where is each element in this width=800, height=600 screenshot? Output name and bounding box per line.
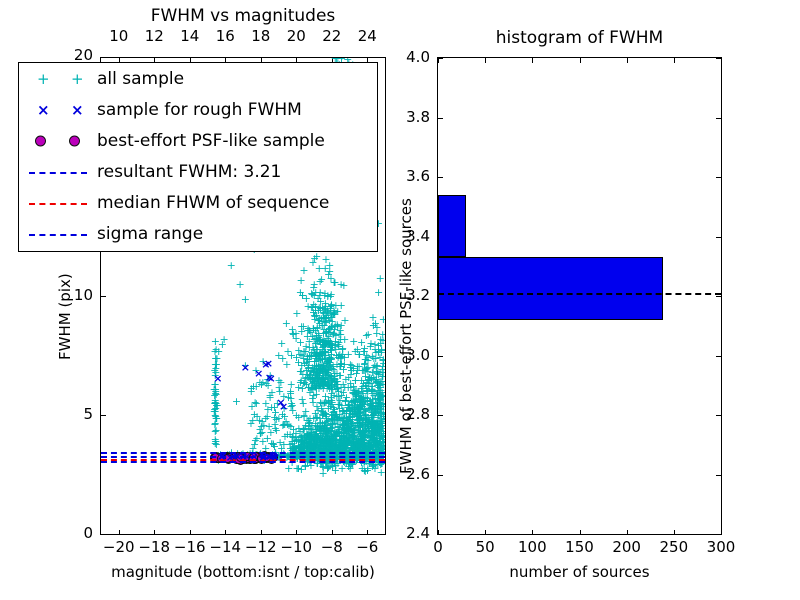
histogram-bar	[438, 257, 663, 319]
all-sample-marker: +	[312, 390, 321, 399]
left-panel-title: FWHM vs magnitudes	[100, 6, 386, 26]
all-sample-marker: +	[211, 427, 220, 436]
all-sample-marker: +	[366, 400, 375, 409]
all-sample-marker: +	[251, 398, 260, 407]
all-sample-marker: +	[319, 469, 328, 478]
left-ylabel: FWHM (pix)	[56, 273, 74, 360]
plot-legend[interactable]: ++all sample××sample for rough FWHMbest-…	[18, 62, 378, 252]
legend-symbol-x-icon: ××	[19, 94, 97, 125]
plus-icon: +	[71, 70, 84, 88]
rough-fwhm-marker: ×	[233, 452, 242, 461]
all-sample-marker: +	[271, 424, 280, 433]
all-sample-marker: +	[330, 431, 339, 440]
dashdot-line-icon	[29, 234, 87, 236]
all-sample-marker: +	[362, 386, 371, 395]
right-x-tick-label: 300	[699, 538, 743, 556]
legend-symbol-plus-icon: ++	[19, 63, 97, 94]
all-sample-marker: +	[287, 399, 296, 408]
y-tick-mark	[438, 534, 443, 535]
left-top-tick-label: 24	[345, 27, 389, 45]
dashed-line-icon	[29, 172, 87, 174]
all-sample-marker: +	[274, 351, 283, 360]
right-y-tick-label: 4.0	[390, 48, 430, 66]
all-sample-marker: +	[257, 417, 266, 426]
all-sample-marker: +	[325, 261, 334, 270]
all-sample-marker: +	[371, 436, 380, 445]
dashed-line-icon	[29, 203, 87, 205]
all-sample-marker: +	[235, 280, 244, 289]
all-sample-marker: +	[315, 264, 324, 273]
all-sample-marker: +	[356, 436, 365, 445]
legend-row[interactable]: best-effort PSF-like sample	[19, 125, 377, 156]
right-x-tick-label: 100	[510, 538, 554, 556]
legend-label: all sample	[97, 69, 184, 89]
x-tick-mark	[721, 530, 722, 535]
rough-fwhm-marker: ×	[213, 374, 222, 383]
legend-row[interactable]: ++all sample	[19, 63, 377, 94]
all-sample-marker: +	[379, 356, 386, 365]
all-sample-marker: +	[299, 399, 308, 408]
all-sample-marker: +	[371, 319, 380, 328]
all-sample-marker: +	[292, 309, 301, 318]
all-sample-marker: +	[374, 288, 383, 297]
all-sample-marker: +	[336, 326, 345, 335]
all-sample-marker: +	[318, 371, 327, 380]
all-sample-marker: +	[312, 252, 321, 261]
rough-fwhm-marker: ×	[264, 359, 273, 368]
all-sample-marker: +	[309, 324, 318, 333]
legend-symbol-dashed-line-icon	[19, 156, 97, 187]
all-sample-marker: +	[323, 291, 332, 300]
legend-symbol-dashed-line-icon	[19, 187, 97, 218]
all-sample-marker: +	[299, 322, 308, 331]
all-sample-marker: +	[212, 414, 221, 423]
left-y-tick-label: 5	[61, 405, 93, 423]
all-sample-marker: +	[362, 424, 371, 433]
all-sample-marker: +	[345, 437, 354, 446]
all-sample-marker: +	[282, 360, 291, 369]
right-x-tick-label: 50	[463, 538, 507, 556]
right-x-tick-label: 250	[652, 538, 696, 556]
all-sample-marker: +	[346, 415, 355, 424]
all-sample-marker: +	[324, 328, 333, 337]
y-tick-mark-right	[716, 534, 721, 535]
all-sample-marker: +	[319, 309, 328, 318]
legend-label: median FHWM of sequence	[97, 193, 329, 213]
all-sample-marker: +	[302, 429, 311, 438]
all-sample-marker: +	[310, 425, 319, 434]
all-sample-marker: +	[275, 387, 284, 396]
legend-label: sigma range	[97, 224, 203, 244]
right-panel-title: histogram of FWHM	[437, 28, 722, 48]
right-y-tick-label: 3.6	[390, 167, 430, 185]
all-sample-marker: +	[232, 397, 241, 406]
histogram-bar	[438, 195, 466, 257]
right-y-tick-label: 3.8	[390, 108, 430, 126]
all-sample-marker: +	[351, 390, 360, 399]
all-sample-marker: +	[340, 383, 349, 392]
legend-row[interactable]: ××sample for rough FWHM	[19, 94, 377, 125]
all-sample-marker: +	[211, 354, 220, 363]
rough-fwhm-marker: ×	[242, 452, 251, 461]
all-sample-marker: +	[251, 436, 260, 445]
left-xlabel: magnitude (bottom:isnt / top:calib)	[80, 563, 406, 581]
all-sample-marker: +	[277, 339, 286, 348]
all-sample-marker: +	[274, 376, 283, 385]
y-tick-mark	[101, 534, 106, 535]
all-sample-marker: +	[376, 274, 385, 283]
all-sample-marker: +	[337, 301, 346, 310]
all-sample-marker: +	[366, 339, 375, 348]
all-sample-marker: +	[377, 345, 385, 354]
dot-icon	[69, 135, 80, 146]
legend-label: resultant FWHM: 3.21	[97, 162, 281, 182]
legend-row[interactable]: median FHWM of sequence	[19, 187, 377, 218]
plus-icon: +	[37, 70, 50, 88]
all-sample-marker: +	[373, 378, 382, 387]
left-bottom-tick-label: −6	[345, 538, 389, 556]
reference-line	[438, 293, 721, 295]
all-sample-marker: +	[288, 325, 297, 334]
right-xlabel: number of sources	[437, 563, 722, 581]
x-icon: ×	[37, 101, 50, 119]
all-sample-marker: +	[294, 346, 303, 355]
x-icon: ×	[71, 101, 84, 119]
histogram-plot-area	[438, 58, 721, 534]
all-sample-marker: +	[346, 363, 355, 372]
all-sample-marker: +	[354, 350, 363, 359]
all-sample-marker: +	[316, 340, 325, 349]
all-sample-marker: +	[255, 378, 264, 387]
all-sample-marker: +	[378, 388, 385, 397]
all-sample-marker: +	[297, 276, 306, 285]
right-x-tick-label: 200	[605, 538, 649, 556]
all-sample-marker: +	[330, 278, 339, 287]
all-sample-marker: +	[211, 437, 220, 446]
all-sample-marker: +	[219, 335, 228, 344]
all-sample-marker: +	[227, 261, 236, 270]
all-sample-marker: +	[298, 291, 307, 300]
figure-canvas: FWHM vs magnitudes 1012141618202224 −20−…	[0, 0, 800, 600]
all-sample-marker: +	[291, 429, 300, 438]
legend-symbol-dashdot-line-icon	[19, 218, 97, 249]
all-sample-marker: +	[299, 411, 308, 420]
all-sample-marker: +	[310, 280, 319, 289]
rough-fwhm-marker: ×	[267, 374, 276, 383]
rough-fwhm-marker: ×	[279, 402, 288, 411]
right-ylabel: FWHM of best-effort PSF-like sources	[397, 198, 415, 474]
rough-fwhm-marker: ×	[269, 451, 278, 460]
all-sample-marker: +	[297, 361, 306, 370]
all-sample-marker: +	[263, 405, 272, 414]
left-y-tick-label: 0	[61, 524, 93, 542]
legend-symbol-dot-icon	[19, 125, 97, 156]
legend-label: best-effort PSF-like sample	[97, 131, 325, 151]
all-sample-marker: +	[372, 367, 381, 376]
legend-row[interactable]: sigma range	[19, 218, 377, 249]
all-sample-marker: +	[211, 389, 220, 398]
x-tick-mark-top	[721, 58, 722, 63]
right-y-tick-label: 2.4	[390, 524, 430, 542]
rough-fwhm-marker: ×	[241, 363, 250, 372]
legend-label: sample for rough FWHM	[97, 100, 302, 120]
right-x-tick-label: 150	[558, 538, 602, 556]
all-sample-marker: +	[321, 432, 330, 441]
legend-row[interactable]: resultant FWHM: 3.21	[19, 156, 377, 187]
dot-icon	[35, 135, 46, 146]
all-sample-marker: +	[241, 295, 250, 304]
